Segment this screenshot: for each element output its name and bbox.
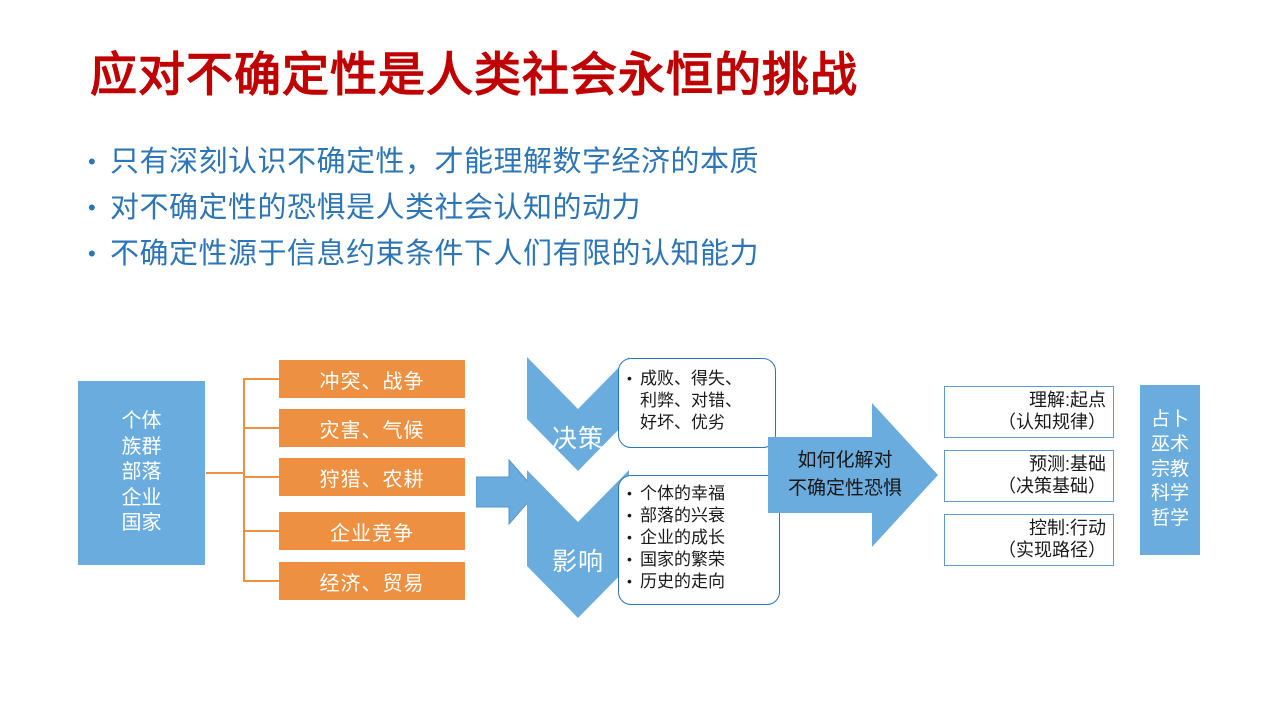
- callout-text: 成败、得失、: [640, 368, 742, 390]
- callout-line: • 历史的走向: [627, 571, 773, 593]
- bullet-dot-icon: •: [627, 527, 640, 547]
- result-box-understand: 理解:起点 （认知规律）: [944, 386, 1114, 438]
- result-box-head: 理解:起点: [1029, 390, 1106, 412]
- connector-branch: [243, 530, 279, 532]
- bullet-dot-icon: •: [627, 549, 640, 569]
- callout-line: 好坏、优劣: [627, 412, 769, 434]
- slide-canvas: 应对不确定性是人类社会永恒的挑战 • 只有深刻认识不确定性，才能理解数字经济的本…: [0, 0, 1279, 719]
- chevron-impact-label: 影响: [527, 542, 629, 578]
- subjects-panel: 个体 族群 部落 企业 国家: [78, 381, 205, 565]
- methods-panel-line: 占卜: [1151, 408, 1189, 433]
- risk-box-hunting: 狩猎、农耕: [279, 458, 465, 496]
- subjects-panel-line: 国家: [122, 511, 162, 537]
- callout-line: • 个体的幸福: [627, 483, 773, 505]
- methods-panel-line: 巫术: [1151, 433, 1189, 458]
- bullet-dot-icon: •: [627, 368, 640, 388]
- connector-branch: [243, 427, 279, 429]
- methods-panel-line: 科学: [1151, 482, 1189, 507]
- result-box-sub: （决策基础）: [998, 476, 1106, 498]
- connector-spine: [243, 378, 245, 580]
- callout-line: • 部落的兴衰: [627, 505, 773, 527]
- callout-text: 个体的幸福: [640, 483, 725, 505]
- bullet-dot-icon: •: [627, 571, 640, 591]
- chevron-decision-label: 决策: [527, 419, 629, 455]
- resolve-arrow-line: 不确定性恐惧: [780, 475, 910, 503]
- subjects-panel-line: 企业: [122, 486, 162, 512]
- callout-text: 企业的成长: [640, 527, 725, 549]
- result-box-head: 控制:行动: [1029, 518, 1106, 540]
- subjects-panel-line: 个体: [122, 409, 162, 435]
- connector-branch: [243, 378, 279, 380]
- subjects-panel-line: 族群: [122, 435, 162, 461]
- resolve-arrow-line: 如何化解对: [780, 447, 910, 475]
- chevron-impact: 影响: [527, 470, 629, 618]
- result-box-predict: 预测:基础 （决策基础）: [944, 450, 1114, 502]
- resolve-arrow: 如何化解对 不确定性恐惧: [768, 403, 938, 547]
- process-diagram: 个体 族群 部落 企业 国家 冲突、战争 灾害、气候 狩猎、农耕 企业竞争 经济…: [0, 0, 1279, 719]
- result-box-head: 预测:基础: [1029, 454, 1106, 476]
- connector-stem: [206, 472, 244, 474]
- chevron-decision: 决策: [527, 357, 629, 471]
- callout-text: 历史的走向: [640, 571, 725, 593]
- risk-box-disaster: 灾害、气候: [279, 409, 465, 447]
- callout-text: 好坏、优劣: [640, 412, 725, 434]
- connector-branch: [243, 476, 279, 478]
- callout-text: 国家的繁荣: [640, 549, 725, 571]
- methods-panel-line: 哲学: [1151, 507, 1189, 532]
- bullet-dot-icon: •: [627, 505, 640, 525]
- callout-line: • 企业的成长: [627, 527, 773, 549]
- impact-callout: • 个体的幸福 • 部落的兴衰 • 企业的成长 • 国家的繁荣 • 历史的走向: [618, 475, 780, 605]
- callout-text: 部落的兴衰: [640, 505, 725, 527]
- result-box-control: 控制:行动 （实现路径）: [944, 514, 1114, 566]
- connector-branch: [243, 580, 279, 582]
- resolve-arrow-text: 如何化解对 不确定性恐惧: [780, 447, 910, 503]
- result-box-sub: （认知规律）: [998, 412, 1106, 434]
- risk-box-conflict: 冲突、战争: [279, 360, 465, 398]
- methods-panel-line: 宗教: [1151, 458, 1189, 483]
- decision-callout: • 成败、得失、 利弊、对错、 好坏、优劣: [618, 358, 776, 448]
- subjects-panel-line: 部落: [122, 460, 162, 486]
- result-box-sub: （实现路径）: [998, 540, 1106, 562]
- bullet-dot-icon: •: [627, 483, 640, 503]
- risk-box-competition: 企业竞争: [279, 512, 465, 550]
- callout-text: 利弊、对错、: [640, 390, 742, 412]
- callout-line: 利弊、对错、: [627, 390, 769, 412]
- risk-box-economy: 经济、贸易: [279, 562, 465, 600]
- callout-line: • 成败、得失、: [627, 368, 769, 390]
- callout-line: • 国家的繁荣: [627, 549, 773, 571]
- methods-panel: 占卜 巫术 宗教 科学 哲学: [1140, 385, 1200, 555]
